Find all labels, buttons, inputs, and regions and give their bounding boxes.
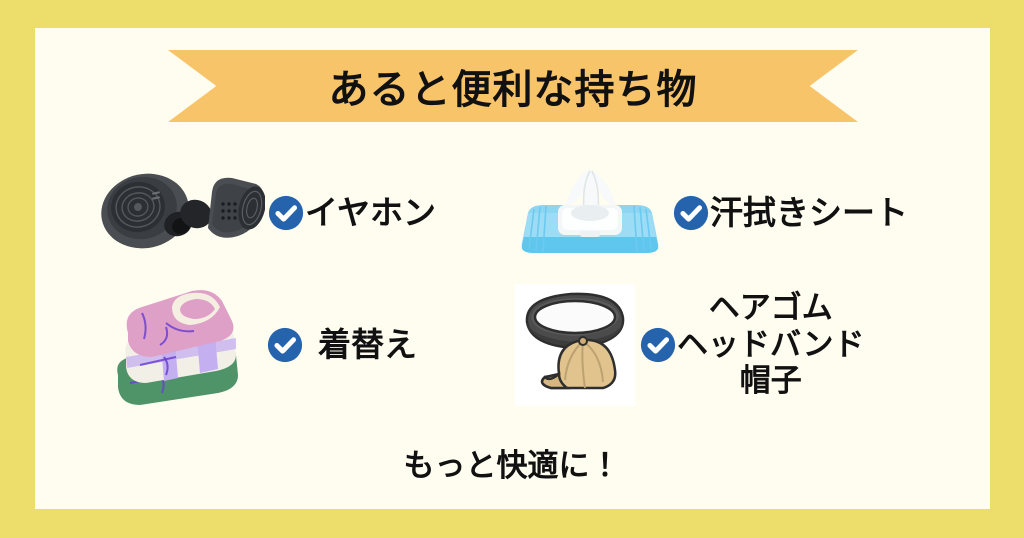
list-item-label-multiline: ヘアゴム ヘッドバンド 帽子 bbox=[677, 290, 865, 400]
label-block-earphones: イヤホン bbox=[267, 194, 436, 233]
list-item-label-line-2: ヘッドバンド bbox=[677, 327, 865, 364]
check-circle-icon bbox=[267, 194, 305, 232]
items-grid: イヤホン bbox=[60, 150, 970, 420]
list-item-label-line-3: 帽子 bbox=[677, 363, 865, 400]
label-block-clothes: 着替え bbox=[266, 326, 417, 365]
poster-root: あると便利な持ち物 bbox=[0, 0, 1024, 538]
banner-ribbon: あると便利な持ち物 bbox=[168, 50, 858, 122]
list-item-label-line-1: ヘアゴム bbox=[677, 290, 865, 327]
check-circle-icon bbox=[672, 194, 710, 232]
list-item-label: イヤホン bbox=[305, 194, 436, 233]
headband-and-cap-icon bbox=[515, 284, 635, 406]
check-circle-icon bbox=[639, 326, 677, 364]
list-item-label: 汗拭きシート bbox=[710, 194, 908, 233]
wet-wipes-pack-icon bbox=[510, 161, 670, 266]
page-title: あると便利な持ち物 bbox=[329, 57, 698, 115]
list-item-hair-accessories: ヘアゴム ヘッドバンド 帽子 bbox=[515, 275, 955, 415]
folded-clothes-stack-icon bbox=[100, 283, 250, 408]
footer-note: もっと快適に！ bbox=[0, 440, 1024, 485]
check-circle-icon bbox=[266, 326, 304, 364]
list-item-earphones: イヤホン bbox=[90, 158, 510, 268]
label-block-hair-accessories: ヘアゴム ヘッドバンド 帽子 bbox=[639, 290, 865, 400]
list-item-label: 着替え bbox=[318, 326, 417, 365]
wireless-earbuds-icon bbox=[90, 166, 265, 261]
label-block-wipes: 汗拭きシート bbox=[672, 194, 908, 233]
banner: あると便利な持ち物 bbox=[168, 50, 858, 122]
list-item-wipes: 汗拭きシート bbox=[510, 158, 950, 268]
list-item-clothes: 着替え bbox=[100, 280, 510, 410]
